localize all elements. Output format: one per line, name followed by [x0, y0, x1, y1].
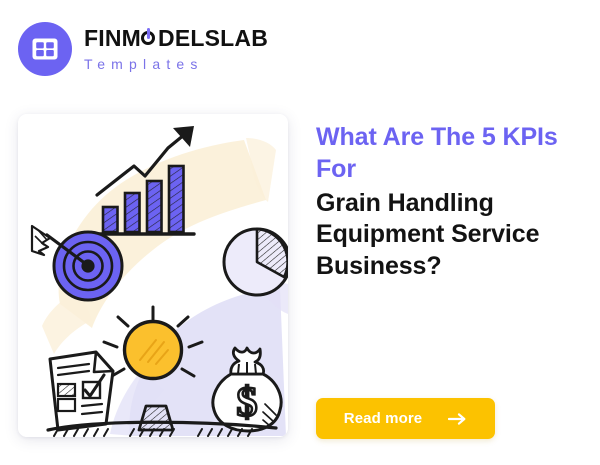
headline-accent: What Are The 5 KPIs For	[316, 122, 592, 186]
brand-name-part1: FINM	[84, 27, 141, 50]
headline-block: What Are The 5 KPIs For Grain Handling E…	[316, 122, 592, 283]
brand-text: FINM DELSLAB Templates	[84, 27, 268, 71]
arrow-right-icon	[448, 413, 467, 425]
money-bag-dollar-symbol: $	[237, 380, 258, 426]
gold-coin-icon	[125, 322, 182, 379]
brand-name-part2: DELSLAB	[158, 27, 268, 50]
brand-logo[interactable]: FINM DELSLAB Templates	[18, 22, 268, 76]
brand-mark	[18, 22, 72, 76]
business-kpi-illustration: $	[18, 114, 288, 437]
power-button-o-icon	[141, 27, 158, 50]
illustration-card: $	[18, 114, 288, 437]
pie-chart-icon	[224, 229, 288, 295]
grid-squares-icon	[30, 34, 60, 64]
brand-subtitle: Templates	[84, 57, 268, 71]
page-title: Grain Handling Equipment Service Busines…	[316, 188, 592, 283]
read-more-button[interactable]: Read more	[316, 398, 495, 439]
brand-name: FINM DELSLAB	[84, 27, 268, 50]
checklist-document-icon	[50, 352, 113, 430]
read-more-label: Read more	[344, 410, 422, 427]
